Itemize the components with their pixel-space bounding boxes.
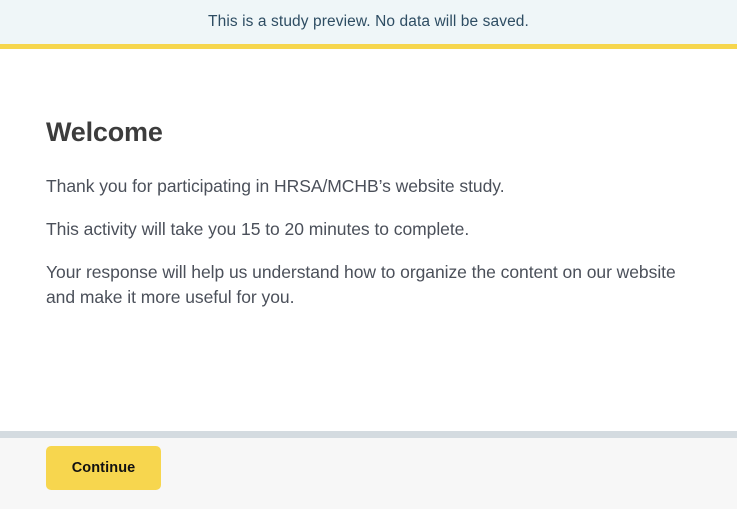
continue-button[interactable]: Continue — [46, 446, 161, 490]
footer-divider — [0, 431, 737, 438]
study-preview-banner-text: This is a study preview. No data will be… — [208, 14, 529, 30]
intro-paragraph-1: Thank you for participating in HRSA/MCHB… — [46, 148, 691, 199]
intro-paragraph-2: This activity will take you 15 to 20 min… — [46, 199, 691, 242]
footer-bar: Continue — [0, 438, 737, 509]
page-title: Welcome — [46, 49, 691, 148]
study-preview-banner: This is a study preview. No data will be… — [0, 0, 737, 44]
content-inner: Welcome Thank you for participating in H… — [0, 49, 737, 310]
intro-paragraph-3: Your response will help us understand ho… — [46, 242, 691, 310]
main-content: Welcome Thank you for participating in H… — [0, 49, 737, 431]
